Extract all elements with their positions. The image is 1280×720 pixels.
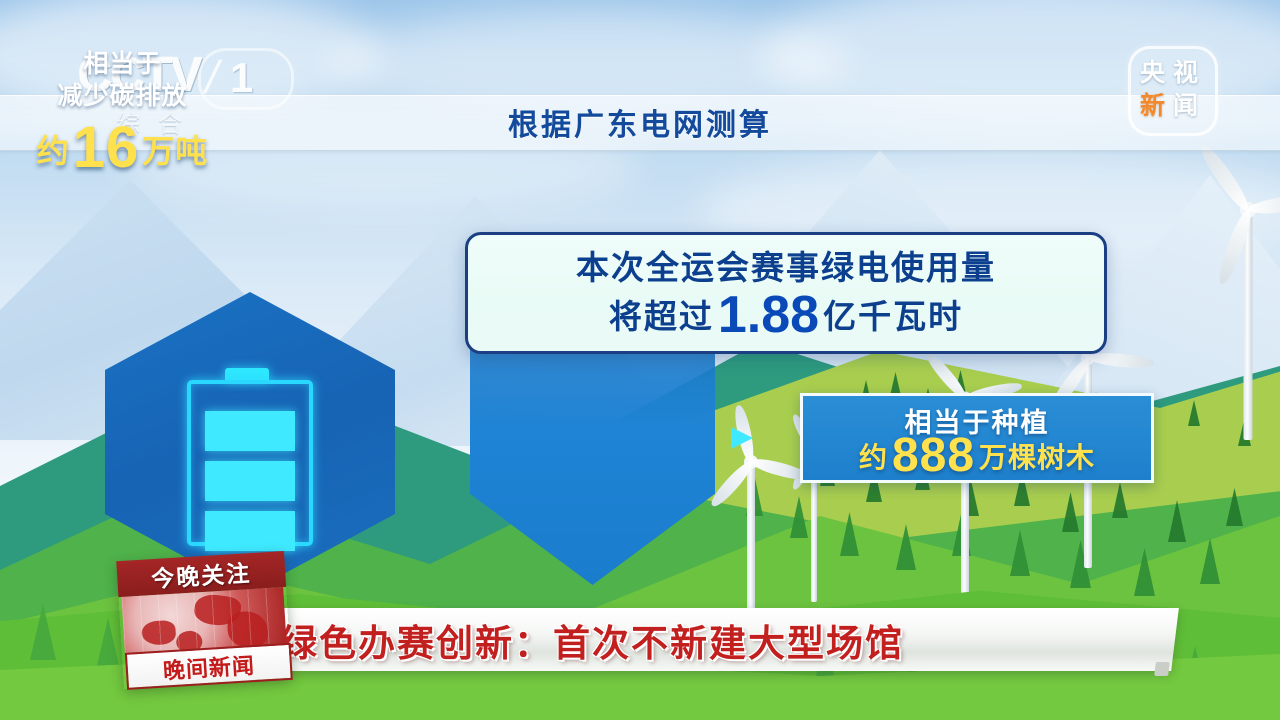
news-badge-char-4: 闻 bbox=[1173, 94, 1198, 119]
battery-icon bbox=[187, 368, 311, 538]
news-badge-char-2: 视 bbox=[1173, 61, 1198, 86]
tree-value-prefix: 约 bbox=[859, 436, 888, 476]
green-power-value: 1.88 bbox=[718, 292, 819, 339]
green-power-card-line1: 本次全运会赛事绿电使用量 bbox=[576, 251, 996, 286]
tree-value: 888 bbox=[892, 436, 975, 477]
green-power-card-line2: 将超过 1.88 亿千瓦时 bbox=[609, 288, 963, 335]
news-badge-char-3: 新 bbox=[1140, 94, 1165, 119]
news-badge-char-1: 央 bbox=[1140, 61, 1165, 86]
carbon-panel-line1: 相当于 bbox=[0, 44, 245, 80]
headline: 绿色办赛创新：首次不新建大型场馆 bbox=[280, 614, 1160, 666]
broadcast-screen: 根据广东电网测算 CCTV / 1 综合 央 视 新 闻 相当于 减少碳排放 约… bbox=[0, 0, 1280, 720]
green-power-prefix: 将超过 bbox=[609, 300, 714, 335]
carbon-panel-value-row: 约 16 万吨 bbox=[0, 118, 245, 172]
carbon-value-prefix: 约 bbox=[37, 126, 70, 172]
battery-cell bbox=[205, 511, 295, 551]
green-power-card: 本次全运会赛事绿电使用量 将超过 1.88 亿千瓦时 bbox=[465, 232, 1107, 354]
tree-planting-panel: 相当于种植 约 888 万棵树木 bbox=[800, 393, 1154, 483]
battery-body bbox=[187, 380, 313, 546]
carbon-value-suffix: 万吨 bbox=[142, 126, 208, 172]
carbon-value: 16 bbox=[73, 123, 140, 172]
battery-cell bbox=[205, 411, 295, 451]
wind-turbine-icon bbox=[1198, 210, 1280, 440]
tree-value-suffix: 万棵树木 bbox=[979, 436, 1095, 476]
green-power-suffix: 亿千瓦时 bbox=[823, 300, 963, 335]
program-badge: 今晚关注 晚间新闻 bbox=[116, 551, 292, 689]
cctv-news-badge: 央 视 新 闻 bbox=[1128, 46, 1218, 136]
battery-cell bbox=[205, 461, 295, 501]
carbon-panel-line2: 减少碳排放 bbox=[0, 76, 245, 112]
tree-panel-value-row: 约 888 万棵树木 bbox=[803, 432, 1151, 476]
